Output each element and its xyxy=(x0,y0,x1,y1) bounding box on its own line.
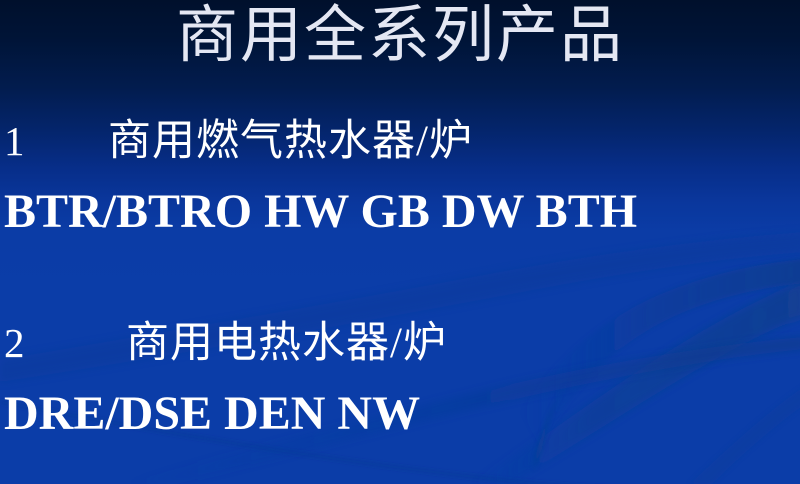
product-group-1-heading: 1商用燃气热水器/炉 xyxy=(0,120,800,163)
product-group-2-heading: 2商用电热水器/炉 xyxy=(0,322,800,365)
product-group-2-label: 商用电热水器/炉 xyxy=(126,320,447,367)
product-group-2: 2商用电热水器/炉 DRE/DSE DEN NW xyxy=(0,322,800,438)
product-group-2-number: 2 xyxy=(4,323,126,364)
page-title: 商用全系列产品 xyxy=(0,4,800,69)
product-group-1-label: 商用燃气热水器/炉 xyxy=(108,118,473,165)
product-group-2-models: DRE/DSE DEN NW xyxy=(0,390,800,438)
slide-canvas: 商用全系列产品 1商用燃气热水器/炉 BTR/BTRO HW GB DW BTH… xyxy=(0,0,800,484)
product-group-1-number: 1 xyxy=(4,121,108,162)
product-group-1-models: BTR/BTRO HW GB DW BTH xyxy=(0,188,800,236)
product-group-1: 1商用燃气热水器/炉 BTR/BTRO HW GB DW BTH xyxy=(0,120,800,236)
